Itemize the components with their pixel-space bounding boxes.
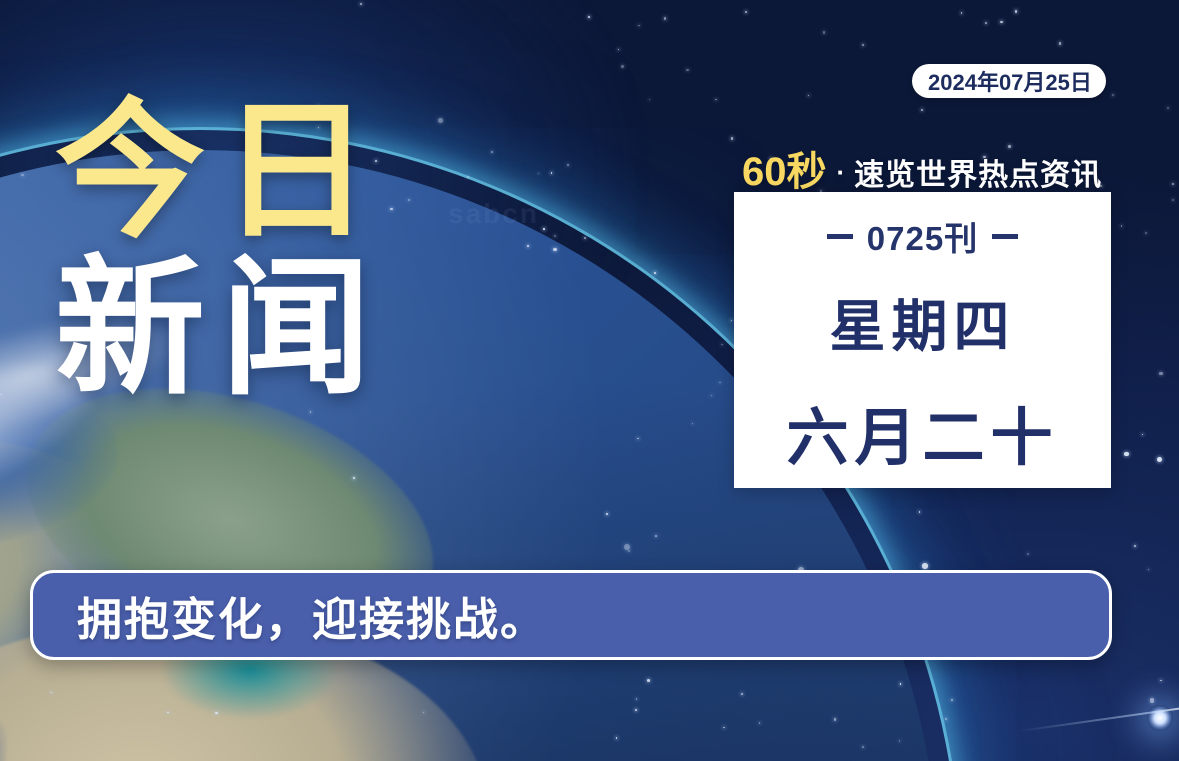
info-card: 0725刊 星期四 六月二十 (734, 192, 1111, 488)
title-line-news: 新闻 (55, 255, 485, 402)
title-line-today: 今日 (55, 98, 485, 245)
tagline-duration: 60秒 (742, 139, 827, 197)
slogan-text: 拥抱变化，迎接挑战。 (77, 583, 547, 648)
weekday-label: 星期四 (830, 282, 1016, 363)
issue-row: 0725刊 (827, 212, 1018, 260)
tagline-separator-icon: · (837, 157, 846, 188)
lunar-date-label: 六月二十 (786, 387, 1058, 477)
slogan-banner: 拥抱变化，迎接挑战。 (30, 570, 1112, 660)
tagline: 60秒 · 速览世界热点资讯 (742, 139, 1102, 197)
tagline-description: 速览世界热点资讯 (854, 150, 1102, 194)
date-badge: 2024年07月25日 (912, 64, 1106, 98)
news-poster: sabcn 今日 新闻 2024年07月25日 60秒 · 速览世界热点资讯 0… (0, 0, 1179, 761)
issue-number: 0725刊 (867, 212, 978, 260)
dash-right-icon (992, 234, 1018, 239)
dash-left-icon (827, 234, 853, 239)
page-title: 今日 新闻 (55, 98, 485, 402)
